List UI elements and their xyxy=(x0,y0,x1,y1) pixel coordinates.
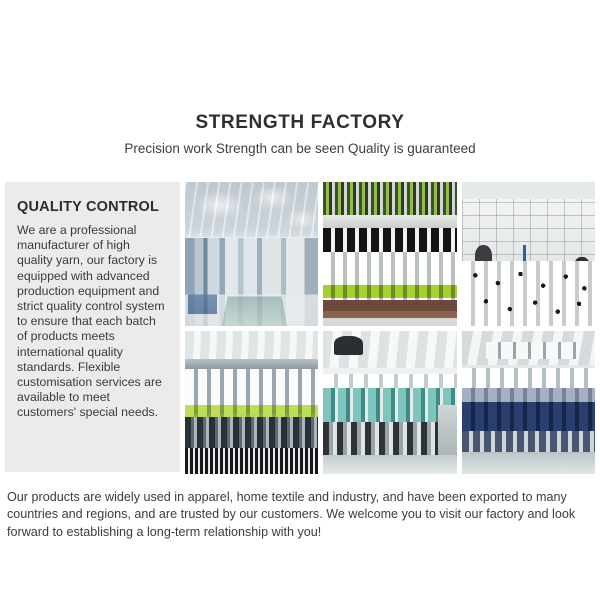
winder-lower-mechanism xyxy=(323,422,456,456)
gallery-image-teal-winding-machines[interactable] xyxy=(323,331,456,475)
footer-paragraph: Our products are widely used in apparel,… xyxy=(7,489,593,541)
gallery-image-spinning-machine-bobbins[interactable] xyxy=(323,182,456,326)
machine-housing-bar xyxy=(323,215,456,229)
roving-frame-legs xyxy=(462,431,595,454)
roving-windows xyxy=(486,342,579,359)
quality-control-title: QUALITY CONTROL xyxy=(17,198,168,216)
frame-ceiling xyxy=(185,331,318,363)
footer-description: Our products are widely used in apparel,… xyxy=(7,489,593,541)
frame-spindle-row xyxy=(185,448,318,474)
machine-base xyxy=(323,300,456,326)
page-subtitle: Precision work Strength can be seen Qual… xyxy=(0,140,600,158)
gallery-image-factory-workshop-overview[interactable] xyxy=(185,182,318,326)
winder-floor xyxy=(323,455,456,474)
teal-winder-heads xyxy=(323,388,456,425)
hall-machine-blue xyxy=(188,257,217,314)
frame-rail xyxy=(185,359,318,369)
loose-cone-pile xyxy=(462,261,595,326)
navy-frame-highlight xyxy=(462,388,595,402)
hall-aisle-floor xyxy=(222,296,287,325)
gallery-image-spinning-frame-line[interactable] xyxy=(185,331,318,475)
overhead-duct xyxy=(334,336,363,355)
roving-floor xyxy=(462,452,595,474)
gallery-image-yarn-cone-warehouse[interactable] xyxy=(462,182,595,326)
factory-photo-grid xyxy=(185,182,595,474)
product-detail-banner: STRENGTH FACTORY Precision work Strength… xyxy=(0,0,600,600)
content-band: QUALITY CONTROL We are a professional ma… xyxy=(0,182,600,474)
winder-control-cabinet xyxy=(438,405,457,457)
machine-top-rail xyxy=(323,182,456,215)
page-title: STRENGTH FACTORY xyxy=(0,112,600,134)
frame-green-bases xyxy=(185,405,318,416)
frame-mechanism xyxy=(185,417,318,449)
quality-control-body: We are a professional manufacturer of hi… xyxy=(17,223,168,421)
green-cone-holders xyxy=(323,285,456,298)
quality-control-panel: QUALITY CONTROL We are a professional ma… xyxy=(5,182,180,472)
banner-header: STRENGTH FACTORY Precision work Strength… xyxy=(0,0,600,158)
gallery-image-navy-roving-frames[interactable] xyxy=(462,331,595,475)
